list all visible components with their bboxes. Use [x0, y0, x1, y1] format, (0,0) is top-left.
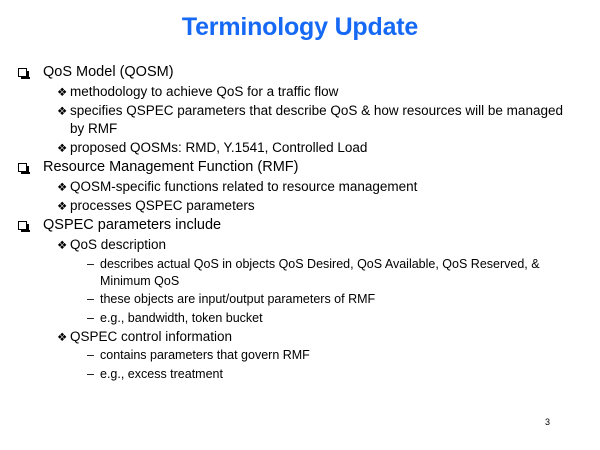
- bullet-item-l2: ❖QSPEC control information: [0, 328, 600, 346]
- page-title: Terminology Update: [0, 12, 600, 42]
- diamond-bullet-icon-glyph: ❖: [57, 102, 67, 120]
- square-bullet-icon: [18, 158, 43, 177]
- diamond-bullet-icon-glyph: ❖: [57, 197, 67, 215]
- diamond-bullet-icon: ❖: [57, 328, 70, 346]
- square-bullet-icon: [18, 63, 43, 82]
- diamond-bullet-icon: ❖: [57, 178, 70, 196]
- dash-bullet-icon-glyph: –: [87, 366, 94, 383]
- bullet-item-l2: ❖specifies QSPEC parameters that describ…: [0, 102, 600, 138]
- bullet-item-l3: –e.g., bandwidth, token bucket: [0, 310, 600, 327]
- bullet-item-l1: QSPEC parameters include: [0, 216, 600, 235]
- square-bullet-icon-shape: [18, 163, 27, 172]
- bullet-item-label: methodology to achieve QoS for a traffic…: [70, 83, 600, 101]
- bullet-item-l2: ❖proposed QOSMs: RMD, Y.1541, Controlled…: [0, 139, 600, 157]
- diamond-bullet-icon: ❖: [57, 139, 70, 157]
- bullet-item-label: processes QSPEC parameters: [70, 197, 600, 215]
- dash-bullet-icon: –: [87, 347, 100, 364]
- bullet-item-l3: –these objects are input/output paramete…: [0, 291, 600, 308]
- bullet-item-l1: QoS Model (QOSM): [0, 63, 600, 82]
- bullet-item-label: e.g., bandwidth, token bucket: [100, 310, 600, 327]
- dash-bullet-icon-glyph: –: [87, 291, 94, 308]
- diamond-bullet-icon-glyph: ❖: [57, 139, 67, 157]
- bullet-item-l3: –contains parameters that govern RMF: [0, 347, 600, 364]
- diamond-bullet-icon-glyph: ❖: [57, 236, 67, 254]
- square-bullet-icon: [18, 216, 43, 235]
- dash-bullet-icon-glyph: –: [87, 310, 94, 327]
- diamond-bullet-icon: ❖: [57, 197, 70, 215]
- dash-bullet-icon-glyph: –: [87, 347, 94, 364]
- bullet-item-l3: –describes actual QoS in objects QoS Des…: [0, 256, 600, 290]
- bullet-item-l2: ❖processes QSPEC parameters: [0, 197, 600, 215]
- square-bullet-icon-shape: [18, 221, 27, 230]
- diamond-bullet-icon-glyph: ❖: [57, 328, 67, 346]
- diamond-bullet-icon: ❖: [57, 102, 70, 120]
- bullet-item-l2: ❖methodology to achieve QoS for a traffi…: [0, 83, 600, 101]
- bullet-item-label: specifies QSPEC parameters that describe…: [70, 102, 600, 138]
- bullet-item-l2: ❖QoS description: [0, 236, 600, 254]
- bullet-item-label: QSPEC parameters include: [43, 216, 600, 235]
- diamond-bullet-icon: ❖: [57, 83, 70, 101]
- bullet-item-l3: –e.g., excess treatment: [0, 366, 600, 383]
- dash-bullet-icon: –: [87, 256, 100, 273]
- diamond-bullet-icon: ❖: [57, 236, 70, 254]
- bullet-item-label: QoS Model (QOSM): [43, 63, 600, 82]
- dash-bullet-icon-glyph: –: [87, 256, 94, 273]
- slide-canvas: Terminology Update QoS Model (QOSM)❖meth…: [0, 0, 600, 450]
- bullet-item-label: contains parameters that govern RMF: [100, 347, 600, 364]
- bullet-item-label: describes actual QoS in objects QoS Desi…: [100, 256, 600, 290]
- bullet-item-l1: Resource Management Function (RMF): [0, 158, 600, 177]
- bullet-item-label: QOSM-specific functions related to resou…: [70, 178, 600, 196]
- bullet-item-label: QoS description: [70, 236, 600, 254]
- bullet-item-l2: ❖QOSM-specific functions related to reso…: [0, 178, 600, 196]
- dash-bullet-icon: –: [87, 310, 100, 327]
- dash-bullet-icon: –: [87, 366, 100, 383]
- bullet-item-label: Resource Management Function (RMF): [43, 158, 600, 177]
- diamond-bullet-icon-glyph: ❖: [57, 83, 67, 101]
- bullet-list: QoS Model (QOSM)❖methodology to achieve …: [0, 62, 600, 383]
- diamond-bullet-icon-glyph: ❖: [57, 178, 67, 196]
- square-bullet-icon-shape: [18, 68, 27, 77]
- dash-bullet-icon: –: [87, 291, 100, 308]
- bullet-item-label: QSPEC control information: [70, 328, 600, 346]
- bullet-item-label: these objects are input/output parameter…: [100, 291, 600, 308]
- bullet-item-label: proposed QOSMs: RMD, Y.1541, Controlled …: [70, 139, 600, 157]
- bullet-item-label: e.g., excess treatment: [100, 366, 600, 383]
- page-number: 3: [545, 417, 550, 428]
